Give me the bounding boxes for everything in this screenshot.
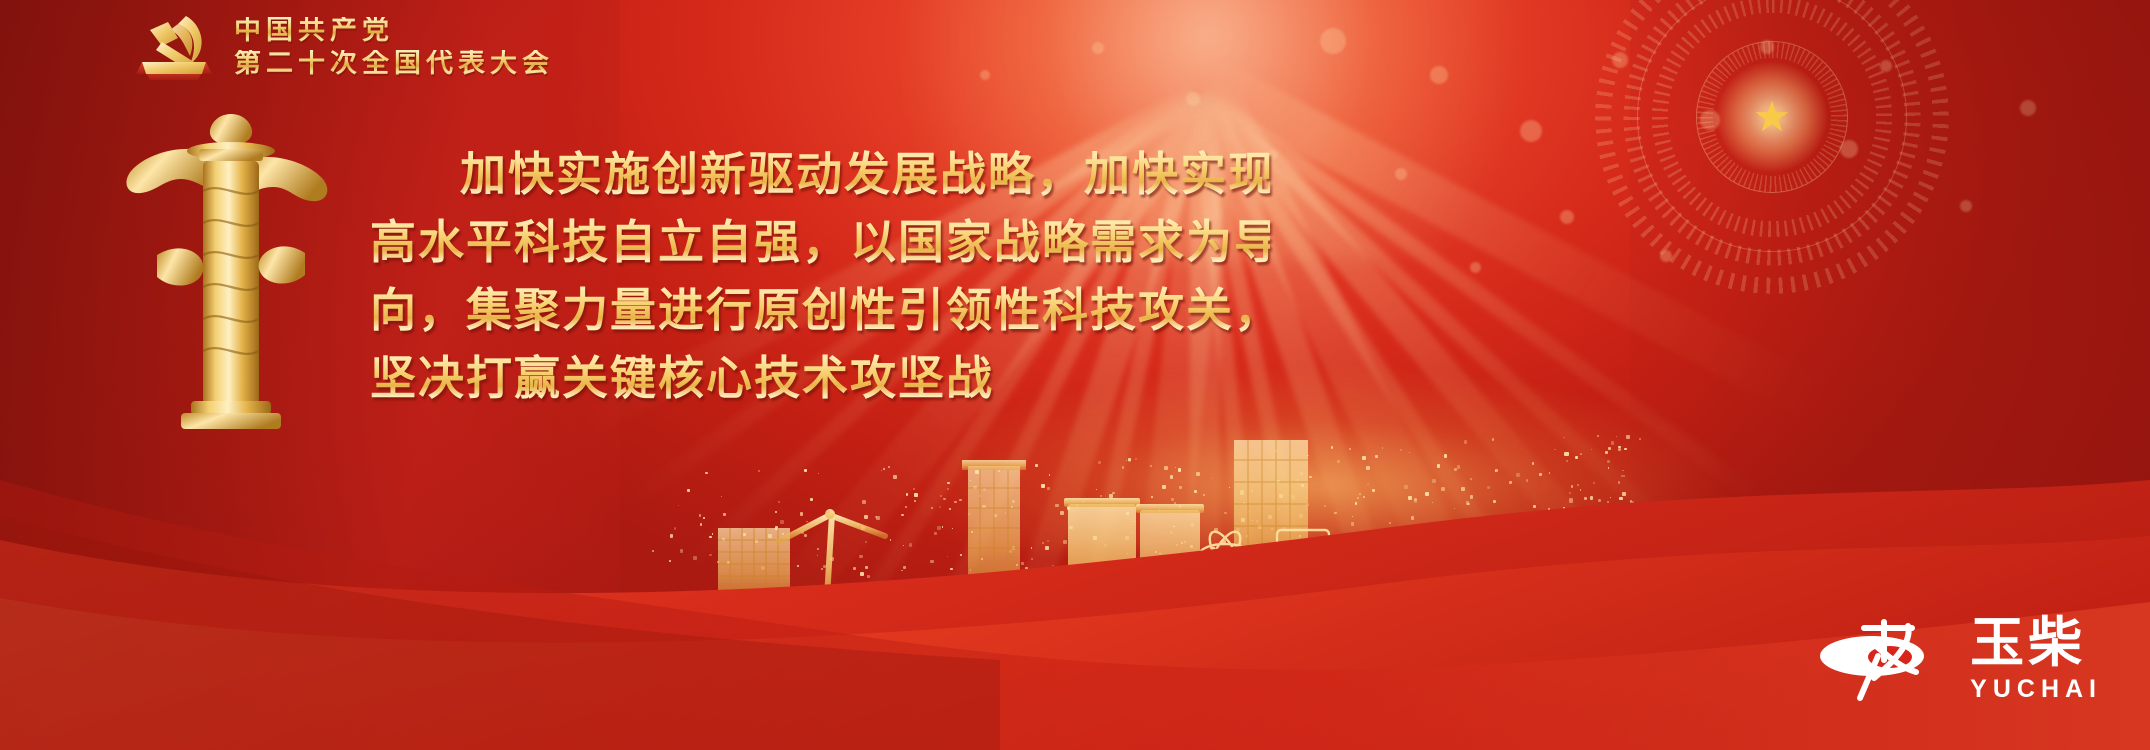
gold-spark: [1580, 453, 1582, 455]
fingerprint-icon: [1359, 537, 1407, 578]
slogan-line-1: 加快实施创新驱动发展战略，加快实现: [370, 140, 1270, 208]
slogan-block: 加快实施创新驱动发展战略，加快实现 高水平科技自立自强，以国家战略需求为导 向，…: [370, 140, 1270, 412]
slogan-line-4: 坚决打赢关键核心技术攻坚战: [370, 344, 1270, 412]
congress-title: 中国共产党 第二十次全国代表大会: [234, 17, 554, 77]
cpc-hammer-sickle-emblem-icon: [128, 8, 220, 86]
gold-spark: [1621, 475, 1623, 477]
gold-spark: [1532, 511, 1534, 513]
skyline-twin-towers: [1064, 498, 1204, 616]
gold-spark: [1564, 452, 1568, 456]
gold-spark: [1556, 539, 1560, 543]
gold-spark: [1539, 473, 1541, 475]
gold-spark: [1623, 475, 1625, 477]
huabiao-pillar: [95, 105, 365, 435]
gold-spark: [1533, 505, 1535, 507]
gold-spark: [1597, 435, 1599, 437]
gold-spark: [1598, 499, 1602, 503]
gold-spark: [1548, 508, 1550, 510]
gold-spark: [1607, 460, 1610, 463]
yuchai-wordmark: 玉柴 YUCHAI: [1970, 616, 2102, 702]
gold-spark: [1575, 456, 1578, 459]
gold-spark: [1590, 496, 1594, 500]
skyline-tower-building: [962, 460, 1026, 616]
gold-spark: [1584, 497, 1587, 500]
yuchai-logo: 玉柴 YUCHAI: [1816, 616, 2102, 702]
gold-spark: [1622, 492, 1626, 496]
gold-spark: [1541, 555, 1542, 556]
gold-spark: [1608, 447, 1611, 450]
yuchai-name-en: YUCHAI: [1970, 677, 2102, 702]
gold-spark: [1624, 448, 1627, 451]
yuchai-ellipse-mark-icon: [1816, 616, 1954, 702]
gold-spark: [1526, 479, 1528, 481]
gold-spark: [1563, 507, 1565, 509]
tech-icon-row: [1195, 512, 1495, 602]
bar-chart-growth-icon: [1433, 527, 1486, 572]
slogan-line-2: 高水平科技自立自强，以国家战略需求为导: [370, 208, 1270, 276]
gold-spark: [1605, 451, 1608, 454]
congress-title-line2: 第二十次全国代表大会: [234, 50, 554, 77]
skyline-wind-turbine: [778, 462, 885, 614]
gold-spark: [1554, 449, 1556, 451]
gold-spark: [1626, 435, 1630, 439]
gold-spark: [1529, 539, 1531, 541]
monitor-icon: [1277, 530, 1329, 578]
gold-spark: [1566, 515, 1567, 516]
gold-spark: [1592, 526, 1596, 530]
gold-spark: [1593, 482, 1595, 484]
congress-header: 中国共产党 第二十次全国代表大会: [128, 8, 554, 86]
gold-spark: [1639, 438, 1641, 440]
congress-banner: ★: [0, 0, 2150, 750]
slogan-line-3: 向，集聚力量进行原创性引领性科技攻关，: [370, 276, 1270, 344]
gold-spark: [1569, 492, 1570, 493]
gold-spark: [1569, 498, 1573, 502]
gold-spark: [1603, 507, 1607, 511]
gold-spark: [1608, 467, 1609, 468]
gold-spark: [1619, 497, 1622, 500]
atom-icon: [1200, 527, 1250, 580]
yuchai-name-cn: 玉柴: [1970, 616, 2086, 670]
gold-spark: [1543, 536, 1544, 537]
gold-spark: [1577, 484, 1579, 486]
gold-spark: [1630, 501, 1633, 504]
congress-title-line1: 中国共产党: [234, 17, 554, 44]
